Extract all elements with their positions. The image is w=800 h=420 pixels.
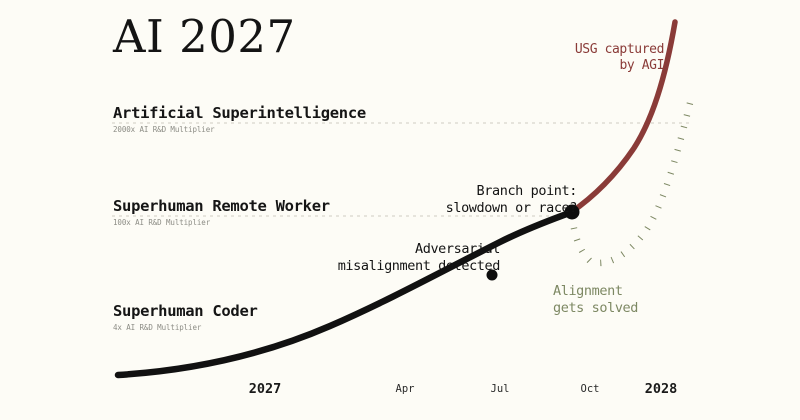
x-tick-2028: 2028: [645, 381, 678, 397]
annotation-line-2: gets solved: [553, 300, 638, 317]
annotation-line-2: by AGI: [575, 58, 664, 74]
annotation-branch-point: Branch point: slowdown or race?: [446, 183, 577, 217]
annotation-line-1: Branch point:: [446, 183, 577, 200]
annotation-usg-captured: USG captured by AGI: [575, 42, 664, 75]
annotation-adversarial-misalignment: Adversarial misalignment detected: [338, 241, 500, 275]
ai-2027-chart: AI 2027 Artificial Superintelligence 200…: [0, 0, 800, 420]
x-tick-apr: Apr: [396, 383, 415, 395]
annotation-line-2: misalignment detected: [338, 258, 500, 275]
annotation-line-1: Alignment: [553, 283, 638, 300]
milestone-superhuman-remote-worker: Superhuman Remote Worker 100x AI R&D Mul…: [113, 198, 330, 226]
main-capability-curve: [118, 212, 572, 375]
annotation-line-2: slowdown or race?: [446, 200, 577, 217]
milestone-label: Artificial Superintelligence: [113, 105, 366, 123]
x-tick-jul: Jul: [491, 383, 510, 395]
slowdown-branch-curve: [572, 103, 690, 263]
page-title: AI 2027: [113, 14, 296, 59]
milestone-sublabel: 2000x AI R&D Multiplier: [113, 126, 366, 134]
milestone-label: Superhuman Remote Worker: [113, 198, 330, 216]
annotation-alignment-solved: Alignment gets solved: [553, 283, 638, 317]
milestone-artificial-superintelligence: Artificial Superintelligence 2000x AI R&…: [113, 105, 366, 133]
milestone-sublabel: 100x AI R&D Multiplier: [113, 219, 330, 227]
x-tick-2027: 2027: [249, 381, 282, 397]
milestone-label: Superhuman Coder: [113, 303, 258, 321]
milestone-superhuman-coder: Superhuman Coder 4x AI R&D Multiplier: [113, 303, 258, 331]
x-tick-oct: Oct: [581, 383, 600, 395]
annotation-line-1: Adversarial: [338, 241, 500, 258]
milestone-sublabel: 4x AI R&D Multiplier: [113, 324, 258, 332]
annotation-line-1: USG captured: [575, 42, 664, 58]
